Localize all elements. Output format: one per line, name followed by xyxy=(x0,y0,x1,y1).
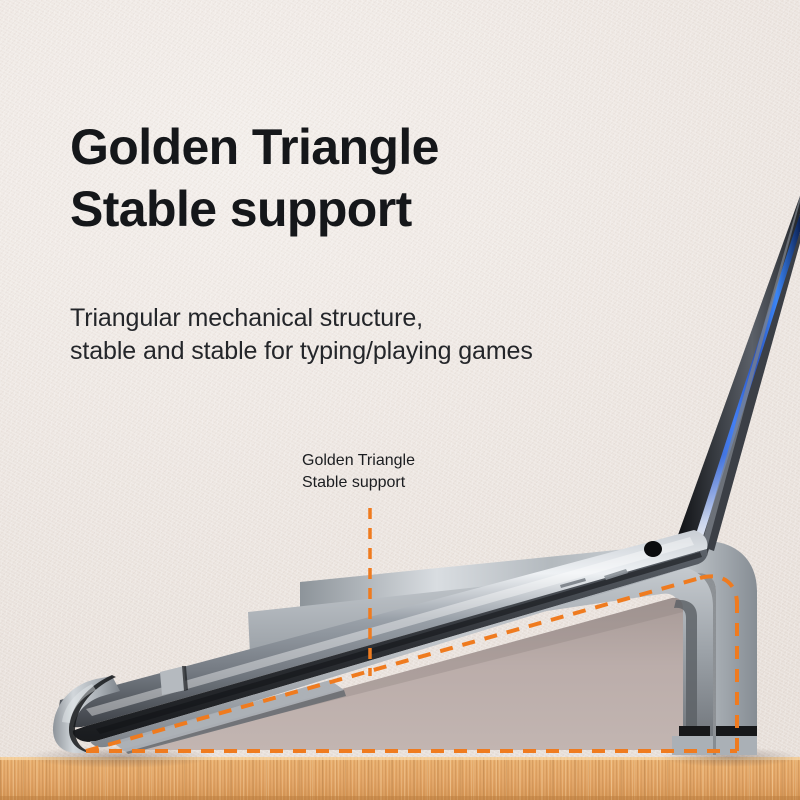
callout-label: Golden Triangle Stable support xyxy=(302,450,532,494)
page-title: Golden Triangle Stable support xyxy=(70,116,710,240)
product-marketing-image: Golden Triangle Stable support Triangula… xyxy=(0,0,800,800)
laptop-port-hole-icon xyxy=(644,541,662,557)
page-subtitle: Triangular mechanical structure, stable … xyxy=(70,302,710,368)
laptop-screen-glow xyxy=(694,214,800,548)
laptop-lid-back xyxy=(674,196,800,556)
laptop-screen-assembly xyxy=(674,196,800,556)
stand-hook-tab xyxy=(160,666,186,695)
laptop-lid-edge-highlight xyxy=(700,196,800,552)
